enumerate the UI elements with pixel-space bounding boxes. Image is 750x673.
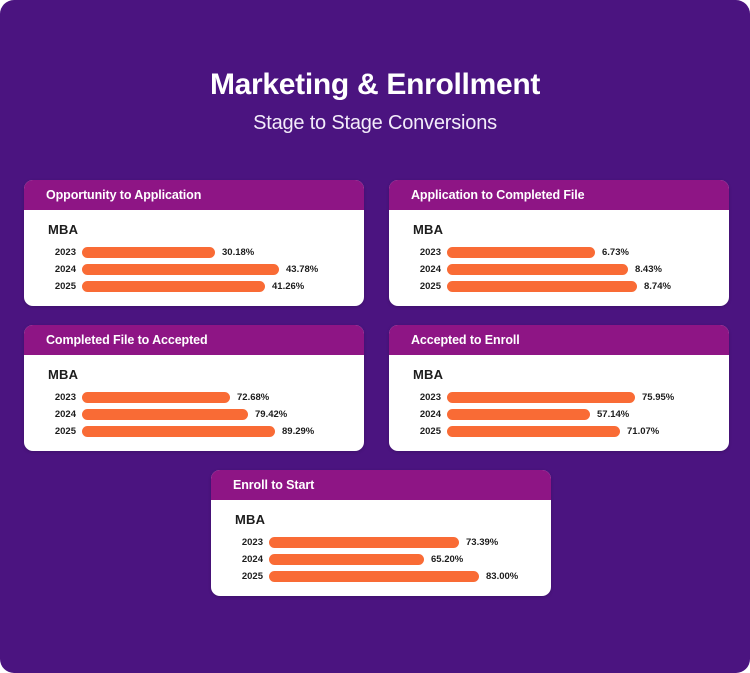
bar xyxy=(82,247,215,258)
bar-row: 202583.00% xyxy=(233,570,541,583)
bar-category-label: 2024 xyxy=(46,264,82,275)
dashboard-panel: Marketing & Enrollment Stage to Stage Co… xyxy=(0,0,750,673)
series-label: MBA xyxy=(48,367,354,382)
chart-card-header: Enroll to Start xyxy=(211,470,551,500)
bar-value-label: 6.73% xyxy=(595,247,629,258)
bar xyxy=(269,571,479,582)
chart-card-title: Application to Completed File xyxy=(411,188,585,202)
series-label: MBA xyxy=(235,512,541,527)
bar-category-label: 2025 xyxy=(411,426,447,437)
bar-value-label: 57.14% xyxy=(590,409,629,420)
bar-category-label: 2023 xyxy=(411,392,447,403)
bar-rows: 202330.18%202443.78%202541.26% xyxy=(46,246,354,293)
chart-card-title: Accepted to Enroll xyxy=(411,333,520,347)
chart-card-body: MBA202373.39%202465.20%202583.00% xyxy=(211,500,551,596)
bar xyxy=(82,264,279,275)
bar-value-label: 65.20% xyxy=(424,554,463,565)
bar-row: 202373.39% xyxy=(233,536,541,549)
bar xyxy=(447,281,637,292)
bar-row: 202372.68% xyxy=(46,391,354,404)
bar xyxy=(82,426,275,437)
bar-value-label: 30.18% xyxy=(215,247,254,258)
bar-value-label: 73.39% xyxy=(459,537,498,548)
bar-row: 20258.74% xyxy=(411,280,719,293)
chart-card: Enroll to StartMBA202373.39%202465.20%20… xyxy=(211,470,551,596)
bar-value-label: 83.00% xyxy=(479,571,518,582)
bar-row: 202330.18% xyxy=(46,246,354,259)
bar-value-label: 8.74% xyxy=(637,281,671,292)
bar xyxy=(447,247,595,258)
bar xyxy=(82,409,248,420)
bar xyxy=(82,392,230,403)
bar-value-label: 72.68% xyxy=(230,392,269,403)
chart-card: Accepted to EnrollMBA202375.95%202457.14… xyxy=(389,325,729,451)
bar-rows: 20236.73%20248.43%20258.74% xyxy=(411,246,719,293)
bar-row: 202479.42% xyxy=(46,408,354,421)
bar-category-label: 2023 xyxy=(46,392,82,403)
bar-category-label: 2024 xyxy=(411,264,447,275)
series-label: MBA xyxy=(413,222,719,237)
chart-card-header: Opportunity to Application xyxy=(24,180,364,210)
bar xyxy=(82,281,265,292)
bar-value-label: 71.07% xyxy=(620,426,659,437)
chart-card: Opportunity to ApplicationMBA202330.18%2… xyxy=(24,180,364,306)
bar-category-label: 2024 xyxy=(46,409,82,420)
bar-row: 202589.29% xyxy=(46,425,354,438)
series-label: MBA xyxy=(48,222,354,237)
chart-card: Application to Completed FileMBA20236.73… xyxy=(389,180,729,306)
bar-value-label: 79.42% xyxy=(248,409,287,420)
bar-value-label: 89.29% xyxy=(275,426,314,437)
bar-value-label: 75.95% xyxy=(635,392,674,403)
chart-card-title: Completed File to Accepted xyxy=(46,333,208,347)
bar-rows: 202372.68%202479.42%202589.29% xyxy=(46,391,354,438)
bar-row: 202541.26% xyxy=(46,280,354,293)
bar xyxy=(269,537,459,548)
bar xyxy=(447,426,620,437)
bar-row: 202571.07% xyxy=(411,425,719,438)
bar xyxy=(447,392,635,403)
chart-card-body: MBA202330.18%202443.78%202541.26% xyxy=(24,210,364,306)
bar-value-label: 43.78% xyxy=(279,264,318,275)
bar-category-label: 2023 xyxy=(411,247,447,258)
bar-category-label: 2025 xyxy=(46,281,82,292)
bar-value-label: 41.26% xyxy=(265,281,304,292)
chart-card-header: Accepted to Enroll xyxy=(389,325,729,355)
chart-card-title: Opportunity to Application xyxy=(46,188,201,202)
chart-card: Completed File to AcceptedMBA202372.68%2… xyxy=(24,325,364,451)
bar xyxy=(447,409,590,420)
bar-row: 20236.73% xyxy=(411,246,719,259)
chart-card-grid: Opportunity to ApplicationMBA202330.18%2… xyxy=(0,0,750,673)
chart-card-body: MBA202372.68%202479.42%202589.29% xyxy=(24,355,364,451)
bar xyxy=(447,264,628,275)
chart-card-body: MBA20236.73%20248.43%20258.74% xyxy=(389,210,729,306)
bar-row: 202465.20% xyxy=(233,553,541,566)
chart-card-header: Completed File to Accepted xyxy=(24,325,364,355)
chart-card-body: MBA202375.95%202457.14%202571.07% xyxy=(389,355,729,451)
bar-row: 202443.78% xyxy=(46,263,354,276)
bar-row: 202375.95% xyxy=(411,391,719,404)
chart-card-title: Enroll to Start xyxy=(233,478,314,492)
bar-category-label: 2023 xyxy=(46,247,82,258)
bar-rows: 202373.39%202465.20%202583.00% xyxy=(233,536,541,583)
bar-row: 20248.43% xyxy=(411,263,719,276)
bar-category-label: 2024 xyxy=(411,409,447,420)
bar-rows: 202375.95%202457.14%202571.07% xyxy=(411,391,719,438)
bar-category-label: 2025 xyxy=(411,281,447,292)
series-label: MBA xyxy=(413,367,719,382)
bar-row: 202457.14% xyxy=(411,408,719,421)
bar-category-label: 2025 xyxy=(46,426,82,437)
bar-category-label: 2023 xyxy=(233,537,269,548)
bar-category-label: 2024 xyxy=(233,554,269,565)
bar-value-label: 8.43% xyxy=(628,264,662,275)
bar-category-label: 2025 xyxy=(233,571,269,582)
chart-card-header: Application to Completed File xyxy=(389,180,729,210)
bar xyxy=(269,554,424,565)
